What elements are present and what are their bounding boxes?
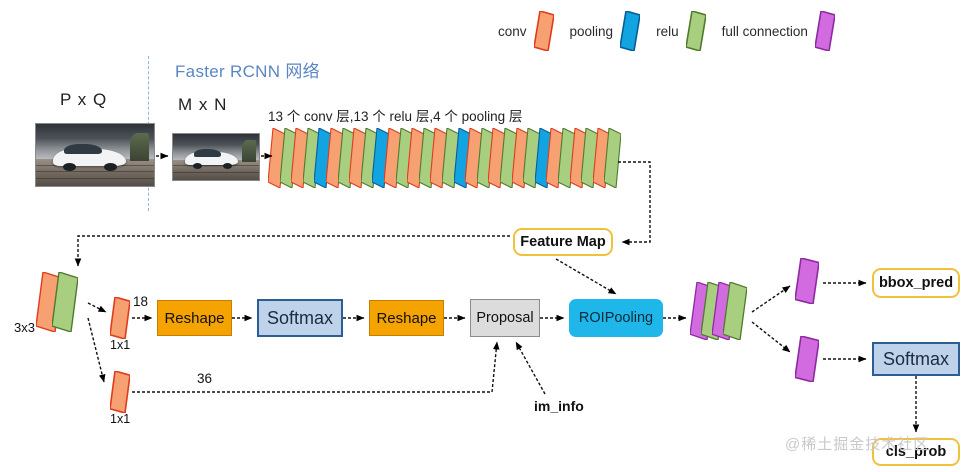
bbox-pred-box[interactable]: bbox_pred xyxy=(872,268,960,298)
legend-swatch xyxy=(534,11,554,51)
bbox-fc-layer xyxy=(795,258,821,304)
rpn-softmax-box[interactable]: Softmax xyxy=(257,299,343,337)
legend-label: conv xyxy=(498,24,527,39)
legend-conv-swatch xyxy=(534,11,554,51)
rpn-3x3-label: 3x3 xyxy=(14,320,35,335)
rpn-cls-channels-label: 18 xyxy=(133,294,148,309)
legend-swatch xyxy=(620,11,640,51)
legend-pooling-swatch xyxy=(620,11,640,51)
reshape-2-box[interactable]: Reshape xyxy=(369,300,444,336)
rpn-reg-channels-label: 36 xyxy=(197,371,212,386)
legend-conv: conv xyxy=(498,11,554,51)
watermark: @稀土掘金技术社区 xyxy=(785,433,929,454)
photo-cliff xyxy=(130,133,149,162)
backbone-caption: 13 个 conv 层,13 个 relu 层,4 个 pooling 层 xyxy=(268,105,522,125)
photo-cliff xyxy=(242,140,256,161)
roi-pooling-box[interactable]: ROIPooling xyxy=(569,299,663,337)
layer-full-connection xyxy=(795,336,819,382)
rpn-3x3-conv-stack xyxy=(36,272,88,334)
connector-layer xyxy=(0,0,965,472)
im-info-label: im_info xyxy=(534,398,584,414)
legend-label: relu xyxy=(656,24,679,39)
rpn-1x1-reg-conv xyxy=(110,371,132,413)
layer-conv xyxy=(110,371,130,413)
resized-size-label: M x N xyxy=(178,95,227,115)
legend-swatch xyxy=(815,11,835,51)
legend-label: pooling xyxy=(570,24,614,39)
legend-full-connection: full connection xyxy=(722,11,835,51)
legend-swatch xyxy=(686,11,706,51)
resized-image xyxy=(172,133,260,181)
feature-map-box[interactable]: Feature Map xyxy=(513,228,613,256)
rpn-1x1-cls-conv xyxy=(110,297,132,339)
layer-full-connection xyxy=(795,258,819,304)
layer-relu xyxy=(52,272,78,332)
backbone-layer-stack xyxy=(268,128,618,198)
reshape-1-box[interactable]: Reshape xyxy=(157,300,232,336)
input-size-label: P x Q xyxy=(60,90,107,110)
legend-relu: relu xyxy=(656,11,706,51)
legend: convpoolingrelufull connection xyxy=(498,6,878,56)
legend-full-connection-swatch xyxy=(815,11,835,51)
head-fc-stack xyxy=(690,282,748,344)
legend-label: full connection xyxy=(722,24,808,39)
layer-conv xyxy=(110,297,130,339)
diagram-title: Faster RCNN 网络 xyxy=(175,57,320,82)
rpn-1x1-reg-label: 1x1 xyxy=(110,412,130,426)
proposal-box[interactable]: Proposal xyxy=(470,299,540,337)
cls-fc-layer xyxy=(795,336,821,382)
cls-softmax-box[interactable]: Softmax xyxy=(872,342,960,376)
rpn-1x1-cls-label: 1x1 xyxy=(110,338,130,352)
legend-pooling: pooling xyxy=(570,11,641,51)
layer-relu xyxy=(604,128,621,188)
legend-relu-swatch xyxy=(686,11,706,51)
input-image xyxy=(35,123,155,187)
layer-relu xyxy=(723,282,747,340)
